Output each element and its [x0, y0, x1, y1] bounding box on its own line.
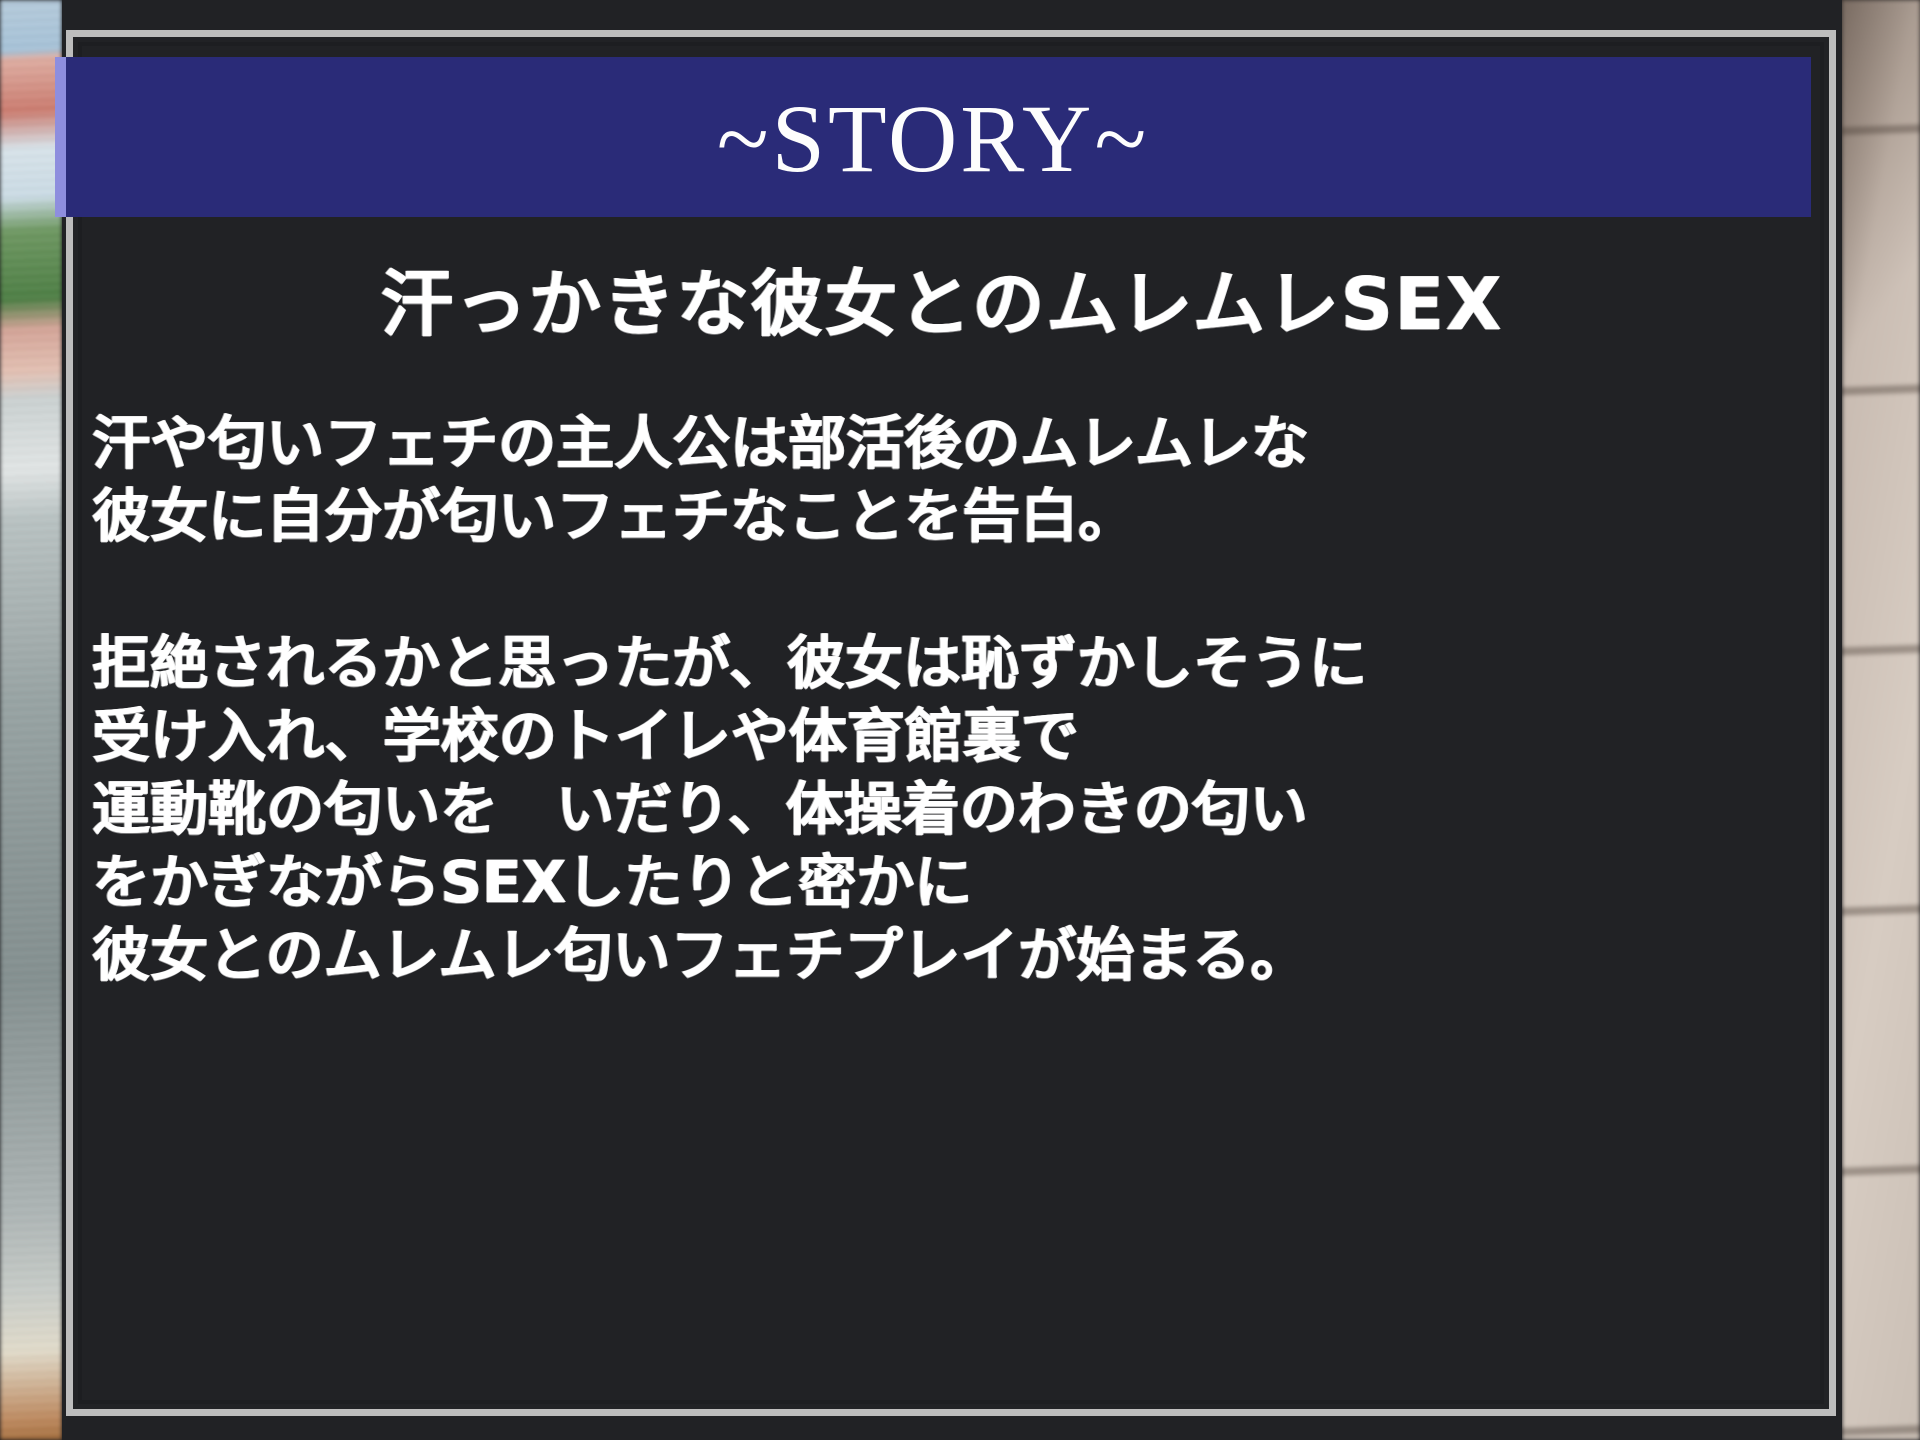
- story-line: 彼女に自分が匂いフェチなことを告白。: [92, 480, 1820, 553]
- story-body: 汗や匂いフェチの主人公は部活後のムレムレな 彼女に自分が匂いフェチなことを告白。…: [86, 407, 1820, 993]
- story-content: 汗っかきな彼女とのムレムレSEX 汗や匂いフェチの主人公は部活後のムレムレな 彼…: [86, 240, 1820, 1380]
- story-paragraph: 拒絶されるかと思ったが、彼女は恥ずかしそうに 受け入れ、学校のトイレや体育館裏で…: [92, 627, 1820, 992]
- story-line: 運動靴の匂いを いだり、体操着のわきの匂い: [92, 773, 1820, 846]
- story-paragraph: 汗や匂いフェチの主人公は部活後のムレムレな 彼女に自分が匂いフェチなことを告白。: [92, 407, 1820, 553]
- background-photo-right: [1842, 0, 1920, 1440]
- banner-left-edge-accent: [55, 57, 66, 217]
- story-line: 受け入れ、学校のトイレや体育館裏で: [92, 700, 1820, 773]
- story-banner: ~STORY~: [55, 57, 1811, 217]
- story-line: 汗や匂いフェチの主人公は部活後のムレムレな: [92, 407, 1820, 480]
- story-headline: 汗っかきな彼女とのムレムレSEX: [86, 262, 1820, 347]
- banner-title: ~STORY~: [717, 91, 1150, 187]
- story-line: 拒絶されるかと思ったが、彼女は恥ずかしそうに: [92, 627, 1820, 700]
- background-photo-left: [0, 0, 62, 1440]
- story-line: 彼女とのムレムレ匂いフェチプレイが始まる。: [92, 919, 1820, 992]
- story-line: をかぎながらSEXしたりと密かに: [92, 846, 1820, 919]
- paragraph-spacer: [92, 553, 1820, 627]
- story-page: ~STORY~ 汗っかきな彼女とのムレムレSEX 汗や匂いフェチの主人公は部活後…: [0, 0, 1920, 1440]
